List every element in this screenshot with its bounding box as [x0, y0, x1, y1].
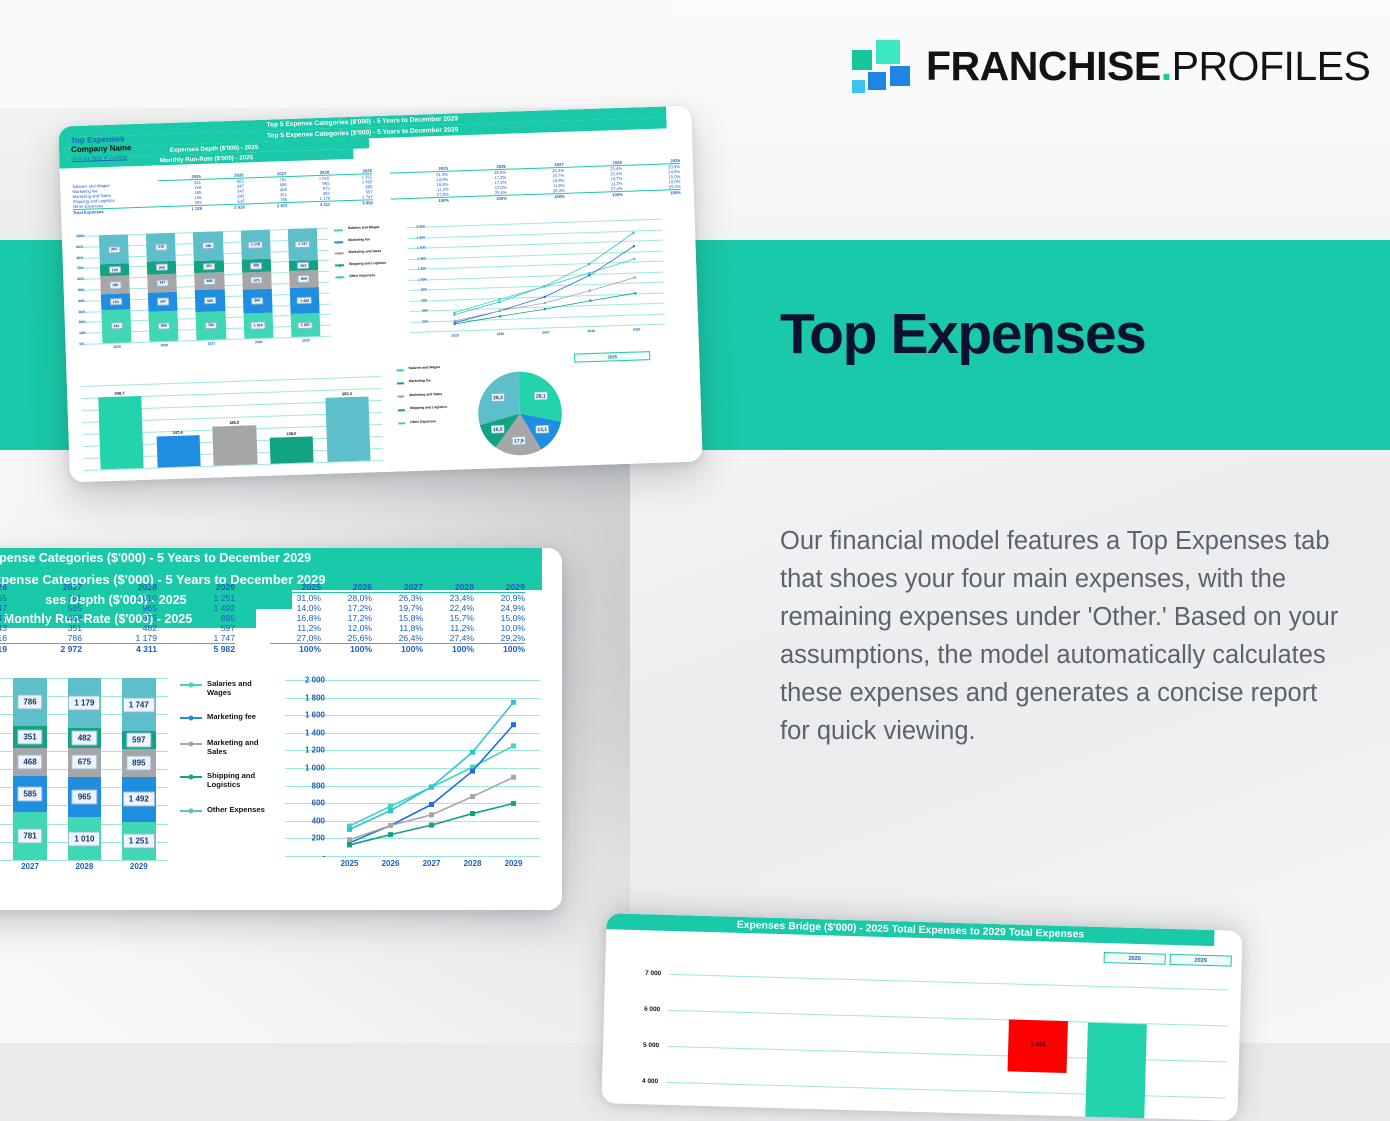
- x-axis-tick: 2026: [141, 342, 188, 348]
- x-axis-tick: 2027: [411, 859, 452, 868]
- bar-data-label: 597: [297, 262, 309, 270]
- bar-data-label: 303: [108, 246, 120, 254]
- legend-item: Marketing fee: [397, 379, 465, 387]
- table-row: 347 468 675 895: [0, 613, 235, 623]
- legend-item: Marketing and Sales: [397, 392, 465, 400]
- legend-label: Other Expenses: [410, 420, 436, 425]
- squares-mosaic-icon: [850, 38, 910, 94]
- legend-label: Marketing and Sales: [207, 739, 276, 756]
- table-percent: 2025 2026 2027 2028 2029 31,0% 28,0% 26,…: [390, 158, 681, 205]
- bar-data-label: 347: [156, 279, 168, 287]
- y-axis-tick: 10%: [79, 331, 86, 335]
- line-series-layer: [407, 215, 666, 341]
- bar-data-label: 965: [72, 790, 97, 805]
- table-values: 2025 2026 2027 2028 2029 Salaries and Wa…: [72, 168, 373, 215]
- bar-data-label: 786: [17, 695, 42, 710]
- table-row: 347 585 965 1 492: [0, 603, 235, 613]
- bar-data-label: 126: [109, 266, 121, 274]
- y-axis-tick: 80%: [77, 255, 84, 259]
- bar-data-label: 482: [250, 262, 262, 270]
- legend-swatch-icon: [180, 713, 202, 723]
- legend-swatch-icon: [396, 367, 403, 373]
- chart-stacked-bar-small: 0%10%20%30%40%50%60%70%80%90%100%3411501…: [76, 226, 332, 352]
- line-series-layer: [285, 676, 540, 876]
- x-axis-tick: 2028: [235, 339, 282, 345]
- legend-swatch-icon: [397, 394, 404, 400]
- table-row: 27,0% 25,6% 26,4% 27,4% 29,2%: [270, 633, 525, 644]
- bar-data-label: 675: [72, 755, 97, 770]
- waterfall-bar: [1082, 1022, 1146, 1120]
- legend-label: Shipping and Logistics: [410, 406, 447, 411]
- bar-data-label: 1 179: [68, 695, 100, 710]
- legend-swatch-icon: [334, 227, 343, 233]
- y-axis-tick: 90%: [76, 245, 83, 249]
- table-values-large: 2026 2027 2028 2029 565 781 1 010 1 251 …: [0, 582, 235, 654]
- legend-swatch-icon: [180, 806, 202, 816]
- gridline: [0, 860, 168, 861]
- legend-item: Marketing fee: [180, 713, 276, 723]
- brand-wordmark: FRANCHISE.PROFILES: [926, 43, 1370, 90]
- legend-label: Shipping and Logistics: [207, 772, 276, 789]
- depth-bar: [98, 396, 144, 469]
- page-body-copy: Our financial model features a Top Expen…: [780, 522, 1346, 750]
- legend-label: Other Expenses: [207, 806, 265, 815]
- screenshot-card-top-expenses: Top Expenses Company Name Go to the Tabl…: [58, 106, 702, 483]
- bar-data-label: 351: [17, 729, 42, 744]
- legend-label: Marketing fee: [207, 713, 256, 722]
- bar-data-label: 1 179: [248, 241, 263, 249]
- banner-table-top5-large: Top 5 Expense Categories ($'000) - 5 Yea…: [0, 548, 542, 568]
- chart-waterfall-expenses-bridge: 7 0006 0005 0004 0007064711 443: [614, 951, 1230, 1118]
- sheet-header: Top Expenses Company Name Go to the Tabl…: [71, 134, 132, 161]
- table-percent-large: 2025 2026 2027 2028 2029 31,0% 28,0% 26,…: [270, 582, 525, 654]
- legend-swatch-icon: [335, 275, 344, 281]
- bar-data-label: 1 251: [298, 321, 313, 329]
- legend-item: Other Expenses: [335, 273, 395, 280]
- depth-bar: [270, 436, 314, 464]
- col-year: 2026: [321, 582, 372, 593]
- table-row: 31,0% 28,0% 26,3% 23,4% 20,9%: [270, 593, 525, 604]
- waterfall-bar: [927, 1117, 986, 1121]
- chart-stacked-bar-large: 3411501851263032025565347347243516202678…: [0, 676, 168, 876]
- page-title: Top Expenses: [780, 306, 1145, 363]
- x-axis-tick: 2029: [112, 862, 166, 871]
- bar-data-label: 468: [203, 278, 215, 286]
- legend-item: Marketing and Sales: [335, 249, 395, 256]
- bar-data-label: 243: [156, 264, 168, 272]
- y-axis-tick: 100%: [76, 234, 85, 238]
- pie-data-label: 17,9: [512, 437, 525, 445]
- legend-item: Shipping and Logistics: [180, 772, 276, 789]
- bar-data-label: 185: [109, 281, 121, 289]
- legend-swatch-icon: [335, 251, 344, 257]
- x-axis-tick: 2026: [370, 859, 411, 868]
- legend-swatch-icon: [334, 239, 343, 245]
- legend-label: Shipping and Logistics: [349, 261, 386, 266]
- bar-data-label: 675: [251, 276, 263, 284]
- year-toggle-2025[interactable]: 2025: [574, 351, 650, 363]
- bar-data-label: 1 010: [251, 322, 266, 330]
- legend-item: Salaries and Wages: [396, 365, 464, 373]
- x-axis-tick: 2029: [493, 859, 534, 868]
- legend-swatch-icon: [335, 263, 344, 269]
- col-year: 2026: [0, 582, 7, 593]
- brand-name-dot: .: [1161, 43, 1172, 89]
- legend-label: Salaries and Wages: [348, 226, 380, 231]
- x-axis-tick: 2027: [3, 862, 57, 871]
- chart-expenses-depth: 340,7147,4185,0126,0303,3: [80, 364, 383, 474]
- bar-data-label: 468: [17, 754, 42, 769]
- table-header-row: 2025 2026 2027 2028 2029: [270, 582, 525, 593]
- legend-item: Shipping and Logistics: [398, 405, 466, 413]
- legend-item: Marketing and Sales: [180, 739, 276, 756]
- bar-data-label: 341: [110, 322, 122, 330]
- bar-data-label: 1 251: [123, 833, 155, 848]
- bar-data-label: 965: [251, 297, 263, 305]
- legend-swatch-icon: [398, 407, 405, 413]
- legend-label: Marketing and Sales: [349, 250, 382, 255]
- legend-label: Marketing fee: [348, 238, 370, 243]
- depth-bar: [156, 435, 200, 467]
- bar-data-label: 786: [202, 242, 214, 250]
- y-axis-tick: 4 000: [622, 1077, 658, 1085]
- brand-name-light: PROFILES: [1172, 43, 1371, 89]
- background-panel-top: [0, 0, 672, 108]
- table-row: 516 786 1 179 1 747: [0, 633, 235, 644]
- bar-data-label: 781: [17, 829, 42, 844]
- y-axis-tick: 6 000: [624, 1005, 660, 1013]
- screenshot-card-expenses-bridge: Expenses Bridge ($'000) - 2025 Total Exp…: [601, 913, 1242, 1121]
- y-axis-tick: 60%: [77, 277, 84, 281]
- y-axis-tick: 50%: [78, 288, 85, 292]
- table-row: 565 781 1 010 1 251: [0, 593, 235, 604]
- col-year: 2028: [423, 582, 474, 593]
- bar-data-label: 516: [155, 243, 167, 251]
- pie-data-label: 10,5: [491, 425, 504, 433]
- legend-item: Marketing fee: [334, 237, 394, 244]
- sheet-company: Company Name: [71, 144, 132, 155]
- svg-text:10,5: 10,5: [493, 427, 503, 433]
- legend-item: Salaries and Wages: [180, 680, 276, 697]
- x-axis-tick: 2025: [329, 859, 370, 868]
- col-year: 2025: [270, 582, 321, 593]
- x-axis-tick: 2025: [94, 344, 141, 350]
- svg-text:28,1: 28,1: [536, 393, 546, 399]
- y-axis-tick: 7 000: [625, 970, 661, 978]
- bar-data-label: 1 492: [123, 792, 155, 807]
- bridge-toggle-start-2025[interactable]: 2025: [1104, 952, 1166, 965]
- chart-line-small: -2004006008001 0001 2001 4001 6001 8002 …: [407, 215, 666, 341]
- bar-data-label: 1 747: [295, 240, 310, 248]
- bar-data-label: 347: [157, 298, 169, 306]
- bar-data-label: 1 747: [123, 697, 155, 712]
- bar-data-label: 150: [110, 298, 122, 306]
- bar-data-label: 482: [72, 730, 97, 745]
- bar-data-label: 895: [298, 275, 310, 283]
- table-row: 243 351 482 597: [0, 623, 235, 633]
- svg-text:17,9: 17,9: [514, 438, 524, 444]
- legend-item: Shipping and Logistics: [335, 261, 395, 268]
- legend-swatch-icon: [180, 739, 202, 749]
- bridge-toggle-end-2029[interactable]: 2029: [1170, 954, 1232, 967]
- depth-bar: [325, 397, 370, 462]
- depth-bar: [213, 425, 257, 465]
- legend-label: Salaries and Wages: [207, 680, 276, 697]
- bar-data-label: 585: [17, 787, 42, 802]
- legend-swatch-icon: [397, 381, 404, 387]
- chart-pie-monthly-run-rate: 28,113,117,910,528,3: [468, 362, 571, 465]
- svg-text:13,1: 13,1: [537, 427, 547, 433]
- bar-data-label: 1 492: [297, 297, 312, 305]
- pie-data-label: 28,3: [492, 393, 505, 401]
- table-row: 16,8% 17,2% 15,8% 15,7% 15,0%: [270, 613, 525, 623]
- pie-data-label: 13,1: [536, 425, 549, 433]
- bar-data-label: 585: [204, 297, 216, 305]
- table-total-row: 100% 100% 100% 100% 100%: [270, 644, 525, 655]
- bar-data-label: 565: [158, 322, 170, 330]
- legend-swatch-icon: [398, 421, 405, 427]
- legend-swatch-icon: [180, 680, 202, 690]
- brand-logo: FRANCHISE.PROFILES: [850, 38, 1370, 94]
- col-year: 2027: [372, 582, 423, 593]
- chart-line-large: -2004006008001 0001 2001 4001 6001 8002 …: [285, 676, 540, 876]
- x-axis-tick: 2027: [188, 341, 235, 347]
- table-total-row: 2 019 2 972 4 311 5 982: [0, 644, 235, 655]
- legend-item: Other Expenses: [180, 806, 276, 816]
- gridline: [81, 376, 381, 387]
- table-header-row: 2026 2027 2028 2029: [0, 582, 235, 593]
- y-axis-tick: 40%: [78, 299, 85, 303]
- legend-swatch-icon: [180, 772, 202, 782]
- bar-data-label: 895: [126, 755, 151, 770]
- x-axis-tick: 2028: [452, 859, 493, 868]
- x-axis-tick: 2028: [57, 862, 111, 871]
- y-axis-tick: 70%: [77, 266, 84, 270]
- x-axis-tick: 2029: [282, 338, 329, 344]
- bar-data-label: 597: [126, 733, 151, 748]
- gridline: [669, 974, 1229, 991]
- legend-stacked-bar-large: Salaries and WagesMarketing feeMarketing…: [180, 680, 276, 832]
- screenshot-card-expense-categories: Top 5 Expense Categories ($'000) - 5 Yea…: [0, 548, 562, 910]
- y-axis-tick: 30%: [78, 309, 85, 313]
- legend-label: Other Expenses: [349, 274, 375, 279]
- pie-data-label: 28,1: [534, 392, 547, 400]
- table-row: 11,2% 12,0% 11,8% 11,2% 10,0%: [270, 623, 525, 633]
- svg-text:28,3: 28,3: [493, 395, 503, 401]
- legend-item: Salaries and Wages: [334, 226, 394, 233]
- bar-data-label: 351: [203, 263, 215, 271]
- y-axis-tick: 5 000: [623, 1041, 659, 1049]
- background-panel-right: [672, 0, 1390, 240]
- col-year: 2028: [82, 582, 157, 593]
- bar-data-label: 1 010: [68, 831, 100, 846]
- legend-label: Marketing fee: [409, 380, 431, 385]
- legend-pie-small: Salaries and WagesMarketing feeMarketing…: [396, 365, 466, 434]
- col-year: 2029: [474, 582, 525, 593]
- col-year: 2027: [7, 582, 82, 593]
- table-row: 14,0% 17,2% 19,7% 22,4% 24,9%: [270, 603, 525, 613]
- legend-label: Marketing and Sales: [409, 393, 442, 398]
- y-axis-tick: 20%: [79, 320, 86, 324]
- legend-stacked-bar-small: Salaries and WagesMarketing feeMarketing…: [334, 226, 396, 287]
- bar-data-label: 781: [205, 322, 217, 330]
- y-axis-tick: 0%: [79, 342, 84, 346]
- legend-label: Salaries and Wages: [408, 366, 440, 371]
- col-year: 2029: [157, 582, 235, 593]
- legend-item: Other Expenses: [398, 419, 466, 427]
- brand-name-bold: FRANCHISE: [926, 43, 1161, 89]
